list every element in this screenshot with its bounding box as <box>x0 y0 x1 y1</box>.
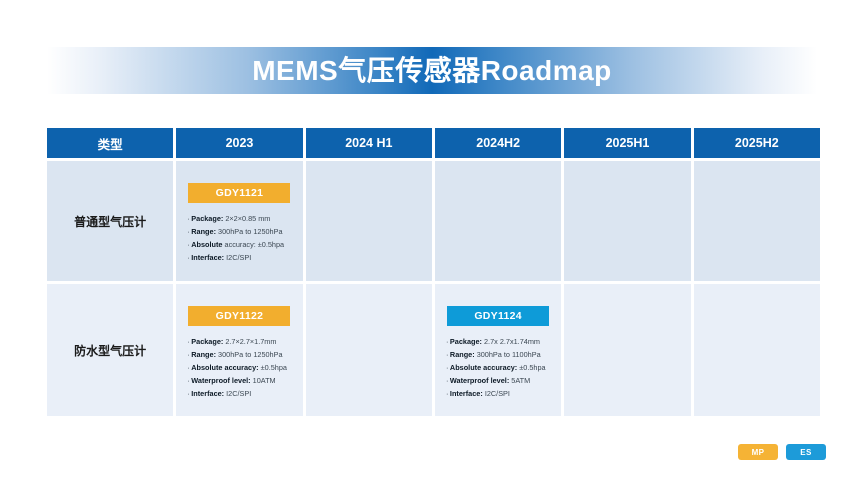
bullet-icon: · <box>446 350 448 359</box>
cell-inner <box>306 284 432 416</box>
legend: MPES <box>738 444 826 460</box>
bullet-icon: · <box>187 350 189 359</box>
spec-key: Range: <box>191 350 216 359</box>
spec-key: Waterproof level: <box>191 376 250 385</box>
bullet-icon: · <box>187 214 189 223</box>
spec-item: ·Range: 300hPa to 1250hPa <box>187 349 295 362</box>
table-row: 普通型气压计GDY1121·Package: 2×2×0.85 mm·Range… <box>47 161 820 281</box>
empty-cell <box>694 161 820 281</box>
spec-item: ·Waterproof level: 5ATM <box>446 375 554 388</box>
roadmap-table: 类型20232024 H12024H22025H12025H2 普通型气压计GD… <box>47 128 820 416</box>
product-cell[interactable]: GDY1121·Package: 2×2×0.85 mm·Range: 300h… <box>176 161 302 281</box>
legend-label: ES <box>800 448 811 457</box>
page-title: MEMS气压传感器Roadmap <box>252 57 612 85</box>
spec-value: 10ATM <box>253 376 276 385</box>
spec-item: ·Absolute accuracy: ±0.5hpa <box>187 239 295 252</box>
spec-list: ·Package: 2.7x 2.7x1.74mm·Range: 300hPa … <box>442 336 554 401</box>
table-header-label: 2025H1 <box>606 136 650 150</box>
cell-inner: GDY1124·Package: 2.7x 2.7x1.74mm·Range: … <box>435 284 561 416</box>
table-header-label: 类型 <box>98 134 123 153</box>
spec-list: ·Package: 2×2×0.85 mm·Range: 300hPa to 1… <box>183 213 295 265</box>
spec-item: ·Waterproof level: 10ATM <box>187 375 295 388</box>
product-badge[interactable]: GDY1124 <box>447 306 549 326</box>
product-name: GDY1124 <box>474 310 522 322</box>
product-name: GDY1121 <box>216 187 264 199</box>
row-type-label: 防水型气压计 <box>74 342 146 359</box>
bullet-icon: · <box>187 376 189 385</box>
bullet-icon: · <box>187 363 189 372</box>
spec-value: 300hPa to 1250hPa <box>218 350 283 359</box>
empty-cell <box>564 284 690 416</box>
row-type-label: 普通型气压计 <box>74 213 146 230</box>
spec-item: ·Absolute accuracy: ±0.5hpa <box>187 362 295 375</box>
spec-key: Interface: <box>191 253 224 262</box>
row-type-inner: 防水型气压计 <box>47 284 173 416</box>
spec-key: Package: <box>191 337 223 346</box>
table-header-cell-4[interactable]: 2025H1 <box>564 128 690 158</box>
spec-item: ·Package: 2.7x 2.7x1.74mm <box>446 336 554 349</box>
empty-cell <box>694 284 820 416</box>
spec-value: ±0.5hpa <box>519 363 545 372</box>
empty-cell <box>435 161 561 281</box>
spec-value: ±0.5hpa <box>261 363 287 372</box>
spec-item: ·Interface: I2C/SPI <box>187 388 295 401</box>
title-banner: MEMS气压传感器Roadmap <box>47 47 817 94</box>
product-badge[interactable]: GDY1122 <box>188 306 290 326</box>
bullet-icon: · <box>187 227 189 236</box>
spec-value: I2C/SPI <box>485 389 510 398</box>
bullet-icon: · <box>187 253 189 262</box>
spec-item: ·Package: 2.7×2.7×1.7mm <box>187 336 295 349</box>
spec-value: 2.7×2.7×1.7mm <box>225 337 276 346</box>
table-header-label: 2024H2 <box>476 136 520 150</box>
empty-cell <box>306 161 432 281</box>
spec-key: Absolute accuracy: <box>191 363 258 372</box>
cell-inner: GDY1121·Package: 2×2×0.85 mm·Range: 300h… <box>176 161 302 281</box>
legend-chip-mp[interactable]: MP <box>738 444 778 460</box>
spec-value: accuracy: ±0.5hpa <box>225 240 285 249</box>
spec-key: Range: <box>191 227 216 236</box>
spec-item: ·Range: 300hPa to 1250hPa <box>187 226 295 239</box>
spec-item: ·Package: 2×2×0.85 mm <box>187 213 295 226</box>
spec-list: ·Package: 2.7×2.7×1.7mm·Range: 300hPa to… <box>183 336 295 401</box>
spec-value: 5ATM <box>511 376 530 385</box>
spec-value: 2×2×0.85 mm <box>225 214 270 223</box>
spec-value: 300hPa to 1250hPa <box>218 227 283 236</box>
product-badge[interactable]: GDY1121 <box>188 183 290 203</box>
spec-key: Waterproof level: <box>450 376 509 385</box>
table-header-cell-5[interactable]: 2025H2 <box>694 128 820 158</box>
cell-inner <box>694 284 820 416</box>
product-name: GDY1122 <box>216 310 264 322</box>
product-cell[interactable]: GDY1122·Package: 2.7×2.7×1.7mm·Range: 30… <box>176 284 302 416</box>
empty-cell <box>306 284 432 416</box>
table-header-label: 2023 <box>226 136 254 150</box>
spec-key: Package: <box>450 337 482 346</box>
spec-item: ·Absolute accuracy: ±0.5hpa <box>446 362 554 375</box>
table-header-cell-1[interactable]: 2023 <box>176 128 302 158</box>
empty-cell <box>564 161 690 281</box>
bullet-icon: · <box>187 389 189 398</box>
spec-item: ·Range: 300hPa to 1100hPa <box>446 349 554 362</box>
legend-chip-es[interactable]: ES <box>786 444 826 460</box>
row-type-inner: 普通型气压计 <box>47 161 173 281</box>
spec-key: Interface: <box>191 389 224 398</box>
table-header-cell-3[interactable]: 2024H2 <box>435 128 561 158</box>
table-header-label: 2025H2 <box>735 136 779 150</box>
table-row: 防水型气压计GDY1122·Package: 2.7×2.7×1.7mm·Ran… <box>47 284 820 416</box>
spec-value: 300hPa to 1100hPa <box>477 350 541 359</box>
bullet-icon: · <box>446 363 448 372</box>
cell-inner: GDY1122·Package: 2.7×2.7×1.7mm·Range: 30… <box>176 284 302 416</box>
spec-key: Interface: <box>450 389 483 398</box>
spec-key: Absolute <box>191 240 222 249</box>
spec-item: ·Interface: I2C/SPI <box>187 252 295 265</box>
table-header-row: 类型20232024 H12024H22025H12025H2 <box>47 128 820 158</box>
spec-key: Package: <box>191 214 223 223</box>
bullet-icon: · <box>446 337 448 346</box>
cell-inner <box>435 161 561 281</box>
spec-value: 2.7x 2.7x1.74mm <box>484 337 540 346</box>
table-header-cell-0[interactable]: 类型 <box>47 128 173 158</box>
cell-inner <box>694 161 820 281</box>
table-header-label: 2024 H1 <box>345 136 392 150</box>
bullet-icon: · <box>187 337 189 346</box>
cell-inner <box>564 161 690 281</box>
legend-label: MP <box>752 448 765 457</box>
cell-inner <box>564 284 690 416</box>
row-type-cell: 防水型气压计 <box>47 284 173 416</box>
spec-value: I2C/SPI <box>226 389 251 398</box>
bullet-icon: · <box>446 389 448 398</box>
spec-item: ·Interface: I2C/SPI <box>446 388 554 401</box>
spec-key: Absolute accuracy: <box>450 363 517 372</box>
table-header-cell-2[interactable]: 2024 H1 <box>306 128 432 158</box>
spec-key: Range: <box>450 350 475 359</box>
spec-value: I2C/SPI <box>226 253 251 262</box>
bullet-icon: · <box>187 240 189 249</box>
cell-inner <box>306 161 432 281</box>
bullet-icon: · <box>446 376 448 385</box>
row-type-cell: 普通型气压计 <box>47 161 173 281</box>
product-cell[interactable]: GDY1124·Package: 2.7x 2.7x1.74mm·Range: … <box>435 284 561 416</box>
